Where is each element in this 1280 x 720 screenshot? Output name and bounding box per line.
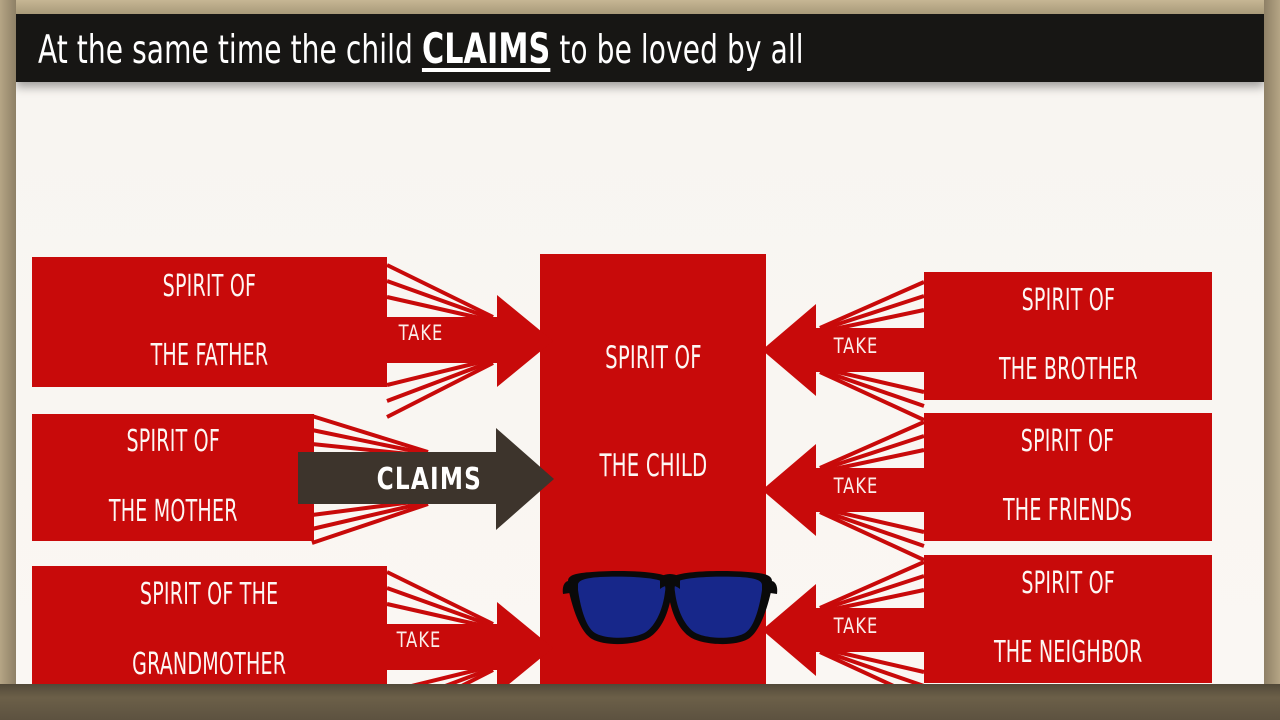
node-label-line1: SPIRIT OF THE xyxy=(132,578,286,613)
node-label: SPIRIT OFTHE NEIGHBOR xyxy=(980,567,1157,671)
connector-brother-to-child: TAKE xyxy=(760,276,940,426)
title-prefix: At the same time the child xyxy=(38,28,422,73)
node-label: SPIRIT OFTHE CHILD xyxy=(589,371,717,515)
sunglasses-icon xyxy=(562,567,778,657)
node-label-line1: SPIRIT OF xyxy=(599,341,707,377)
node-label-line1: SPIRIT OF xyxy=(151,270,269,305)
connector-mother-to-child: CLAIMS xyxy=(298,412,558,547)
connector-father-to-child: TAKE xyxy=(371,259,556,424)
node-spirit-of-the-neighbor[interactable]: SPIRIT OFTHE NEIGHBOR xyxy=(924,555,1212,683)
slide-title-bar: At the same time the child CLAIMS to be … xyxy=(16,14,1264,82)
node-label: SPIRIT OFTHE MOTHER xyxy=(96,425,249,529)
slide-canvas: At the same time the child CLAIMS to be … xyxy=(16,14,1264,684)
node-label-line2: THE FATHER xyxy=(151,339,269,374)
node-spirit-of-the-mother[interactable]: SPIRIT OFTHE MOTHER xyxy=(32,414,314,541)
node-label-line2: THE CHILD xyxy=(599,449,707,485)
node-label-line1: SPIRIT OF xyxy=(109,425,238,460)
node-label-line2: THE BROTHER xyxy=(999,353,1138,388)
frame-top-border xyxy=(0,0,1280,14)
node-label-line1: SPIRIT OF xyxy=(994,567,1142,602)
node-spirit-of-the-father[interactable]: SPIRIT OFTHE FATHER xyxy=(32,257,387,387)
node-label-line2: GRANDMOTHER xyxy=(132,648,286,683)
connector-friends-to-child: TAKE xyxy=(760,416,940,566)
page-title: At the same time the child CLAIMS to be … xyxy=(38,20,804,80)
node-label-line1: SPIRIT OF xyxy=(1003,425,1132,460)
node-spirit-of-the-brother[interactable]: SPIRIT OFTHE BROTHER xyxy=(924,272,1212,400)
node-label-line2: THE MOTHER xyxy=(109,495,238,530)
title-keyword: CLAIMS xyxy=(422,24,550,73)
node-spirit-of-the-grandmother[interactable]: SPIRIT OF THEGRANDMOTHER xyxy=(32,566,387,684)
node-spirit-of-the-friends[interactable]: SPIRIT OFTHE FRIENDS xyxy=(924,413,1212,541)
node-label: SPIRIT OF THEGRANDMOTHER xyxy=(118,578,301,682)
connector-grandmother-to-child: TAKE xyxy=(371,566,556,684)
title-suffix: to be loved by all xyxy=(550,28,803,73)
node-label-line1: SPIRIT OF xyxy=(999,284,1138,319)
frame-right-border xyxy=(1264,0,1280,720)
node-label-line2: THE NEIGHBOR xyxy=(994,636,1142,671)
connector-neighbor-to-child: TAKE xyxy=(760,556,940,684)
frame-bottom-border xyxy=(0,684,1280,720)
frame-left-border xyxy=(0,0,16,720)
node-label: SPIRIT OFTHE FRIENDS xyxy=(991,425,1145,529)
node-label: SPIRIT OFTHE BROTHER xyxy=(985,284,1150,388)
node-label-line2: THE FRIENDS xyxy=(1003,494,1132,529)
slide: At the same time the child CLAIMS to be … xyxy=(0,0,1280,720)
node-label: SPIRIT OFTHE FATHER xyxy=(139,270,279,374)
